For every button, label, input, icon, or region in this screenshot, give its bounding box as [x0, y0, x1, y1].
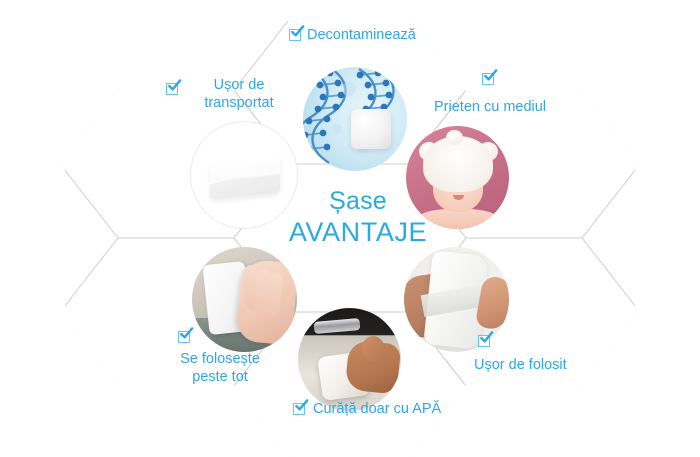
benefit-label-curata-doar-cu-apa[interactable]: Curăță doar cu APĂ: [293, 400, 441, 418]
cleaning-hand: [345, 339, 401, 394]
benefit-label-text: Se folosește peste tot: [155, 350, 285, 386]
benefit-label-text: Ușor de folosit: [474, 356, 567, 374]
checkbox-checked-icon: [289, 28, 304, 42]
benefit-label-line2: transportat: [204, 95, 273, 111]
benefit-label-line2: peste tot: [192, 369, 248, 385]
benefit-label-decontamineaza[interactable]: Decontaminează: [289, 26, 416, 44]
benefit-label-line1: Ușor de: [214, 77, 265, 93]
checkbox-checked-icon: [293, 402, 308, 416]
checkbox-checked-icon: [166, 82, 181, 96]
sponge-block-shape: [210, 154, 280, 199]
benefit-label-text: Curăță doar cu APĂ: [313, 401, 441, 417]
center-title-line2: AVANTAJE: [278, 216, 438, 249]
checkbox-checked-icon: [482, 72, 497, 86]
benefit-label-line1: Se folosește: [180, 351, 260, 367]
center-title-line1: Șase: [278, 186, 438, 216]
white-bear-hat: [423, 136, 493, 192]
image-hand-holding-sponge-at-counter: [192, 247, 297, 352]
benefit-label-text: Decontaminează: [307, 27, 416, 43]
benefit-label-text: Prieten cu mediul: [434, 98, 546, 116]
checkbox-checked-icon: [478, 334, 493, 348]
infographic-canvas: Șase AVANTAJE Decontaminează Prieten cu …: [0, 0, 700, 457]
center-title: Șase AVANTAJE: [278, 186, 438, 249]
image-dna-helix-with-sponge-cube: [303, 67, 407, 171]
baby-mouth: [453, 195, 464, 200]
image-hand-cleaning-with-sponge: [298, 308, 401, 411]
benefit-label-text: Ușor de transportat: [192, 76, 286, 112]
checkbox-checked-icon: [178, 330, 193, 344]
sponge-cube-shape: [351, 109, 391, 149]
hat-pompom: [446, 130, 463, 145]
